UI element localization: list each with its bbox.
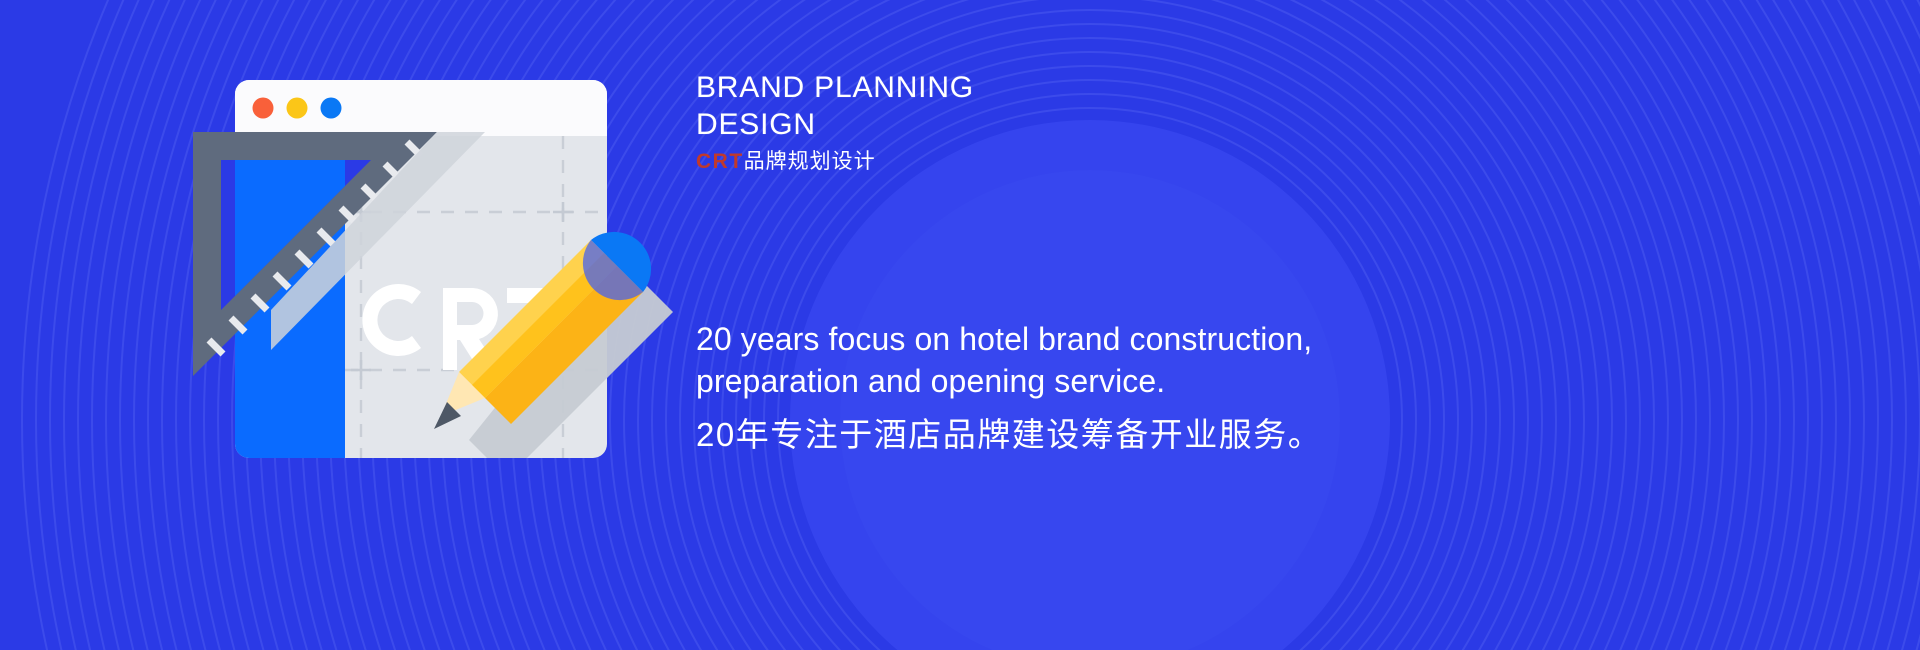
brand-banner: BRAND PLANNING DESIGN CRT品牌规划设计 20 years… <box>0 0 1920 650</box>
close-dot-icon[interactable] <box>253 98 274 119</box>
headline-chinese: CRT品牌规划设计 <box>696 149 974 175</box>
headline-english: BRAND PLANNING DESIGN <box>696 70 974 143</box>
tagline-english: 20 years focus on hotel brand constructi… <box>696 318 1436 402</box>
brand-name: CRT <box>696 150 744 173</box>
heading-block: BRAND PLANNING DESIGN CRT品牌规划设计 <box>696 70 974 175</box>
illustration-svg <box>185 60 705 520</box>
minimize-dot-icon[interactable] <box>287 98 308 119</box>
headline-chinese-text: 品牌规划设计 <box>744 150 876 173</box>
tagline-chinese: 20年专注于酒店品牌建设筹备开业服务。 <box>696 414 1436 457</box>
maximize-dot-icon[interactable] <box>321 98 342 119</box>
design-illustration <box>185 60 705 520</box>
copy-block: BRAND PLANNING DESIGN CRT品牌规划设计 20 years… <box>696 0 1796 650</box>
tagline-block: 20 years focus on hotel brand constructi… <box>696 318 1436 457</box>
